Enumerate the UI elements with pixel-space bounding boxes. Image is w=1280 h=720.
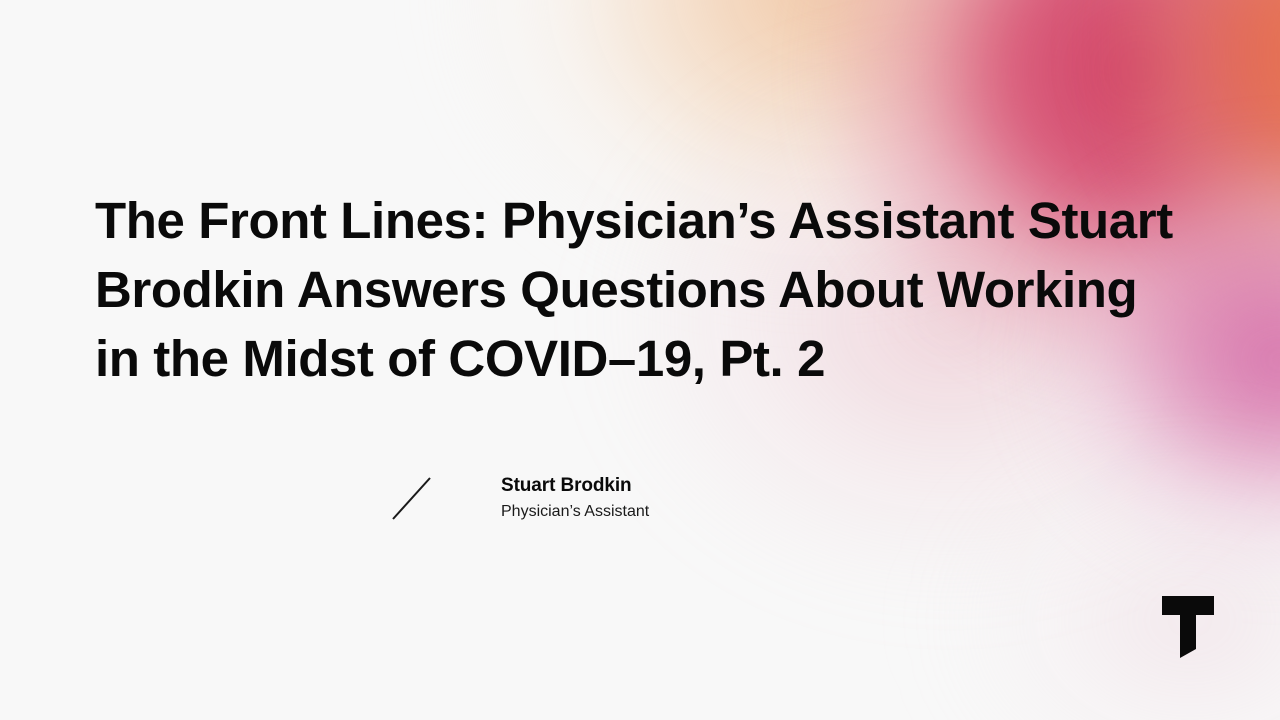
article-headline: The Front Lines: Physician’s Assistant S… (95, 186, 1185, 393)
card-content: The Front Lines: Physician’s Assistant S… (0, 0, 1280, 720)
byline-text-block: Stuart Brodkin Physician’s Assistant (501, 474, 649, 523)
t-monogram-logo-icon (1160, 596, 1216, 658)
article-share-card: The Front Lines: Physician’s Assistant S… (0, 0, 1280, 720)
author-role: Physician’s Assistant (501, 501, 649, 523)
author-byline: Stuart Brodkin Physician’s Assistant (389, 472, 649, 524)
author-name: Stuart Brodkin (501, 474, 649, 498)
diagonal-slash-avatar-placeholder-icon (389, 472, 441, 524)
